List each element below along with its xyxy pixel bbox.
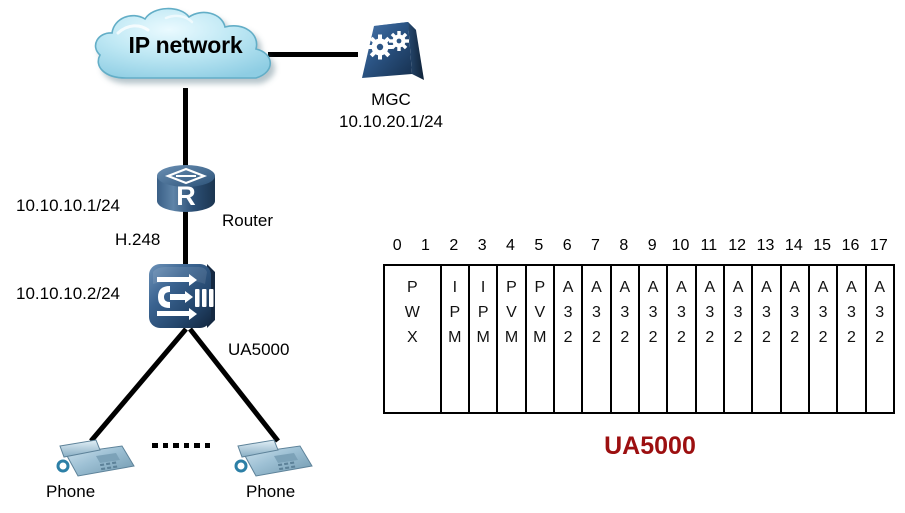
slot-header-16: 16 <box>842 237 860 255</box>
slot-header-7: 7 <box>591 237 600 255</box>
slot-cell-line: A <box>640 276 666 301</box>
slot-cell-2: IPM <box>441 265 469 413</box>
slot-cell-line: A <box>668 276 694 301</box>
slot-cell-line: 3 <box>725 301 751 326</box>
slot-cell-line: 3 <box>810 301 836 326</box>
slot-cell-line: 2 <box>583 326 609 351</box>
ellipsis-dashes <box>152 443 210 448</box>
slot-cell-line: 2 <box>810 326 836 351</box>
slot-cell-line: 3 <box>867 301 893 326</box>
slot-cell-0-1: PWX <box>384 265 441 413</box>
slot-cell-line: 3 <box>753 301 779 326</box>
slot-cell-line: 3 <box>782 301 808 326</box>
slot-header-4: 4 <box>506 237 515 255</box>
slot-cell-line: A <box>725 276 751 301</box>
ua5000-ip-label: 10.10.10.2/24 <box>16 284 120 304</box>
desk-phone-icon <box>50 432 138 488</box>
slot-cell-line: 2 <box>867 326 893 351</box>
slot-cell-line: A <box>697 276 723 301</box>
slot-cell-line: I <box>470 276 496 301</box>
slot-cell-line: V <box>498 301 524 326</box>
mgc-name-label: MGC <box>316 90 466 110</box>
slot-cell-line: A <box>867 276 893 301</box>
slot-cell-7: A32 <box>582 265 610 413</box>
link-cloud-to-router <box>183 88 188 170</box>
slot-cell-line: M <box>442 326 468 351</box>
slot-cell-14: A32 <box>781 265 809 413</box>
slot-cell-line: A <box>555 276 581 301</box>
slot-cell-11: A32 <box>696 265 724 413</box>
slot-cell-line: 2 <box>668 326 694 351</box>
slot-header-1: 1 <box>421 237 430 255</box>
slot-cell-line: 2 <box>753 326 779 351</box>
slot-cell-line: P <box>498 276 524 301</box>
slot-cell-9: A32 <box>639 265 667 413</box>
slot-header-3: 3 <box>478 237 487 255</box>
slot-table-wrapper: PWXIPMIPMPVMPVMA32A32A32A32A32A32A32A32A… <box>383 264 893 414</box>
slot-cell-4: PVM <box>497 265 525 413</box>
desk-phone-icon <box>228 432 316 488</box>
slot-cell-line: M <box>470 326 496 351</box>
router-icon: R <box>155 163 217 215</box>
phone2-label: Phone <box>246 482 295 502</box>
slot-header-13: 13 <box>757 237 775 255</box>
slot-header-2: 2 <box>449 237 458 255</box>
mgc-gears-icon <box>352 20 430 88</box>
phone1-label: Phone <box>46 482 95 502</box>
slot-cell-10: A32 <box>667 265 695 413</box>
mgc-ip-label: 10.10.20.1/24 <box>316 112 466 132</box>
slot-cell-line: V <box>527 301 553 326</box>
slot-cell-line: 3 <box>640 301 666 326</box>
slot-cell-line: A <box>810 276 836 301</box>
slot-cell-line: P <box>470 301 496 326</box>
slot-cell-line: 2 <box>640 326 666 351</box>
slot-cell-line: 2 <box>697 326 723 351</box>
slot-cell-line: 3 <box>838 301 864 326</box>
slot-cell-16: A32 <box>837 265 865 413</box>
slot-header-12: 12 <box>728 237 746 255</box>
slot-cell-line: P <box>527 276 553 301</box>
slot-header-10: 10 <box>672 237 690 255</box>
slot-cell-12: A32 <box>724 265 752 413</box>
slot-cell-17: A32 <box>866 265 894 413</box>
slot-header-14: 14 <box>785 237 803 255</box>
slot-cell-line: 3 <box>612 301 638 326</box>
slot-header-5: 5 <box>534 237 543 255</box>
slot-cell-line: A <box>782 276 808 301</box>
slot-cell-3: IPM <box>469 265 497 413</box>
slot-cell-line: 3 <box>668 301 694 326</box>
slot-cell-8: A32 <box>611 265 639 413</box>
ua5000-name-label: UA5000 <box>228 340 289 360</box>
router-ip-label: 10.10.10.1/24 <box>16 196 120 216</box>
link-ua5000-to-phone1 <box>85 325 190 445</box>
slot-cell-line: 3 <box>555 301 581 326</box>
slot-cell-line: P <box>442 301 468 326</box>
slot-cell-line: A <box>583 276 609 301</box>
slot-cell-line: M <box>527 326 553 351</box>
slot-header-6: 6 <box>563 237 572 255</box>
router-name-label: Router <box>222 211 273 231</box>
slot-cell-line: W <box>385 301 440 326</box>
slot-cell-line: A <box>612 276 638 301</box>
h248-link-label: H.248 <box>115 230 160 250</box>
slot-cell-5: PVM <box>526 265 554 413</box>
slot-cell-line: 2 <box>612 326 638 351</box>
slot-cell-line: A <box>838 276 864 301</box>
slot-header-11: 11 <box>701 237 718 255</box>
slot-cell-line: M <box>498 326 524 351</box>
slot-cell-line: A <box>753 276 779 301</box>
slot-header-8: 8 <box>619 237 628 255</box>
slot-cell-line: P <box>385 276 440 301</box>
slot-cell-line: I <box>442 276 468 301</box>
slot-header-17: 17 <box>870 237 888 255</box>
voice-gateway-icon <box>143 258 223 338</box>
slot-cell-13: A32 <box>752 265 780 413</box>
diagram-canvas: IP network <box>0 0 905 513</box>
shelf-caption: UA5000 <box>560 432 740 461</box>
slot-header-9: 9 <box>648 237 657 255</box>
slot-cell-line: 3 <box>697 301 723 326</box>
slot-header-0: 0 <box>393 237 402 255</box>
slot-cell-line: 2 <box>782 326 808 351</box>
slot-cell-6: A32 <box>554 265 582 413</box>
slot-number-headers: 01234567891011121314151617 <box>383 237 893 259</box>
slot-cell-line: 2 <box>555 326 581 351</box>
slot-header-15: 15 <box>813 237 831 255</box>
slot-cell-line: 3 <box>583 301 609 326</box>
table-row: PWXIPMIPMPVMPVMA32A32A32A32A32A32A32A32A… <box>384 265 894 413</box>
cloud-label: IP network <box>88 32 283 59</box>
slot-cell-15: A32 <box>809 265 837 413</box>
slot-cell-line: X <box>385 326 440 351</box>
svg-text:R: R <box>176 181 196 211</box>
slot-cell-line: 2 <box>725 326 751 351</box>
slot-cell-line: 2 <box>838 326 864 351</box>
slot-table: PWXIPMIPMPVMPVMA32A32A32A32A32A32A32A32A… <box>383 264 895 414</box>
